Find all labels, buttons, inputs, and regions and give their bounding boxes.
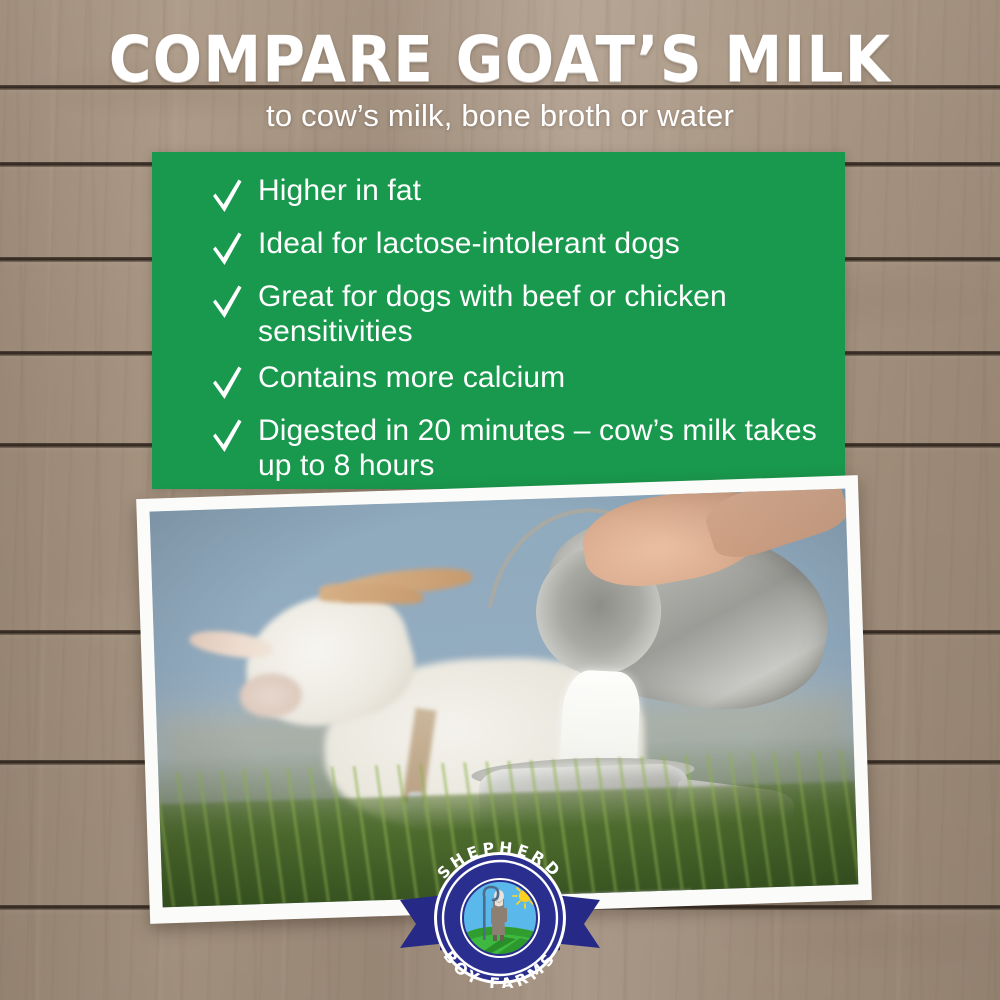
- checkmark-icon: [210, 283, 244, 321]
- checkmark-icon: [210, 417, 244, 455]
- benefits-panel: Higher in fat Ideal for lactose-intolera…: [152, 152, 845, 489]
- benefit-text: Ideal for lactose-intolerant dogs: [258, 226, 680, 261]
- list-item: Ideal for lactose-intolerant dogs: [210, 226, 819, 268]
- list-item: Higher in fat: [210, 173, 819, 215]
- page-subtitle: to cow’s milk, bone broth or water: [0, 91, 1000, 133]
- list-item: Digested in 20 minutes – cow’s milk take…: [210, 413, 819, 483]
- benefit-text: Higher in fat: [258, 173, 421, 208]
- benefit-text: Digested in 20 minutes – cow’s milk take…: [258, 413, 818, 483]
- list-item: Great for dogs with beef or chicken sens…: [210, 279, 819, 349]
- list-item: Contains more calcium: [210, 360, 819, 402]
- benefit-text: Great for dogs with beef or chicken sens…: [258, 279, 818, 349]
- poster-header: COMPARE GOAT’S MILK to cow’s milk, bone …: [0, 0, 1000, 133]
- checkmark-icon: [210, 177, 244, 215]
- poster-canvas: COMPARE GOAT’S MILK to cow’s milk, bone …: [0, 0, 1000, 1000]
- brand-logo[interactable]: SHEPHERD BOY FARMS: [392, 838, 608, 988]
- checkmark-icon: [210, 364, 244, 402]
- checkmark-icon: [210, 230, 244, 268]
- benefits-list: Higher in fat Ideal for lactose-intolera…: [152, 152, 845, 483]
- page-title: COMPARE GOAT’S MILK: [40, 0, 960, 91]
- benefit-text: Contains more calcium: [258, 360, 565, 395]
